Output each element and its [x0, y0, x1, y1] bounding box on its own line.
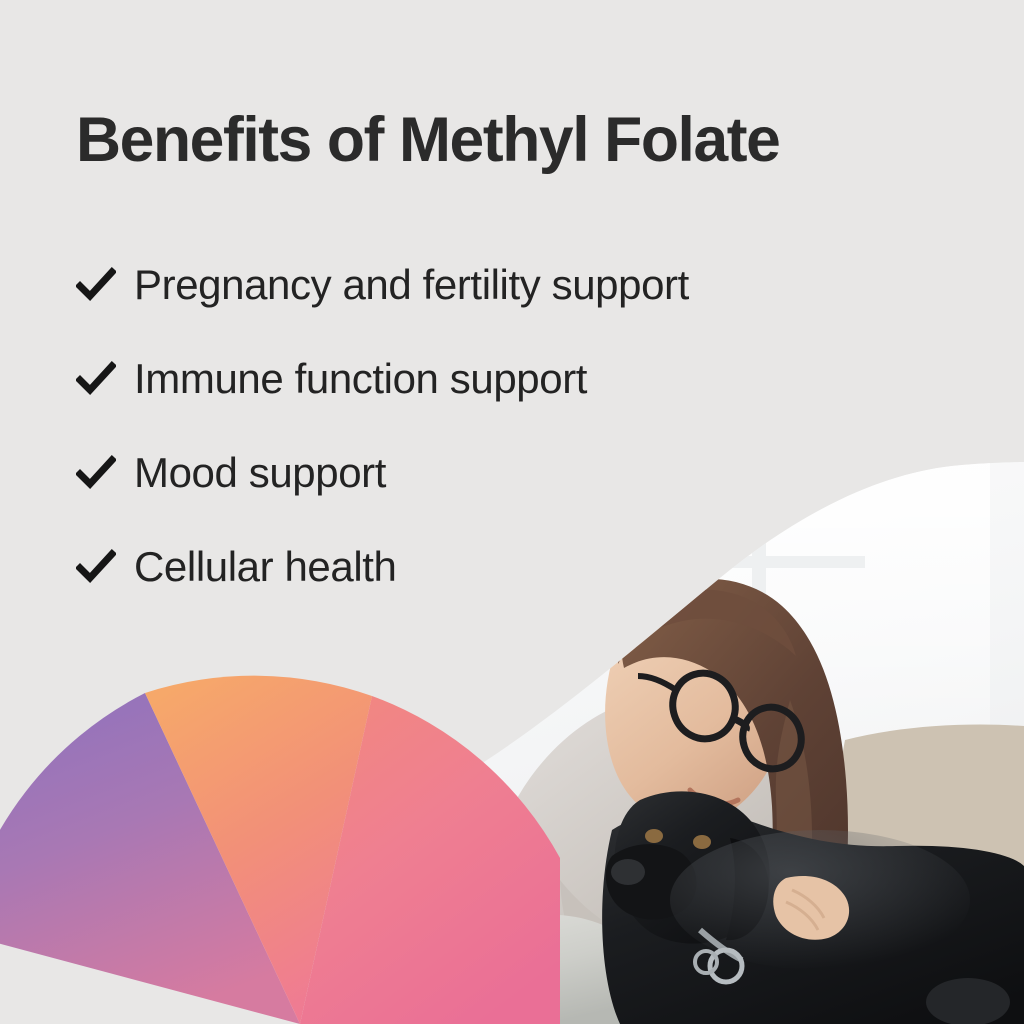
- checkmark-icon: [76, 547, 116, 587]
- page-title: Benefits of Methyl Folate: [76, 104, 779, 176]
- benefit-item: Cellular health: [76, 520, 689, 614]
- benefit-item: Immune function support: [76, 332, 689, 426]
- benefit-item: Pregnancy and fertility support: [76, 238, 689, 332]
- benefit-label: Cellular health: [134, 546, 397, 588]
- benefit-label: Mood support: [134, 452, 386, 494]
- infographic-canvas: Benefits of Methyl Folate Pregnancy and …: [0, 0, 1024, 1024]
- benefits-list: Pregnancy and fertility support Immune f…: [76, 238, 689, 614]
- text-layer: Benefits of Methyl Folate Pregnancy and …: [0, 0, 1024, 1024]
- benefit-label: Pregnancy and fertility support: [134, 264, 689, 306]
- benefit-label: Immune function support: [134, 358, 587, 400]
- checkmark-icon: [76, 265, 116, 305]
- benefit-item: Mood support: [76, 426, 689, 520]
- checkmark-icon: [76, 453, 116, 493]
- checkmark-icon: [76, 359, 116, 399]
